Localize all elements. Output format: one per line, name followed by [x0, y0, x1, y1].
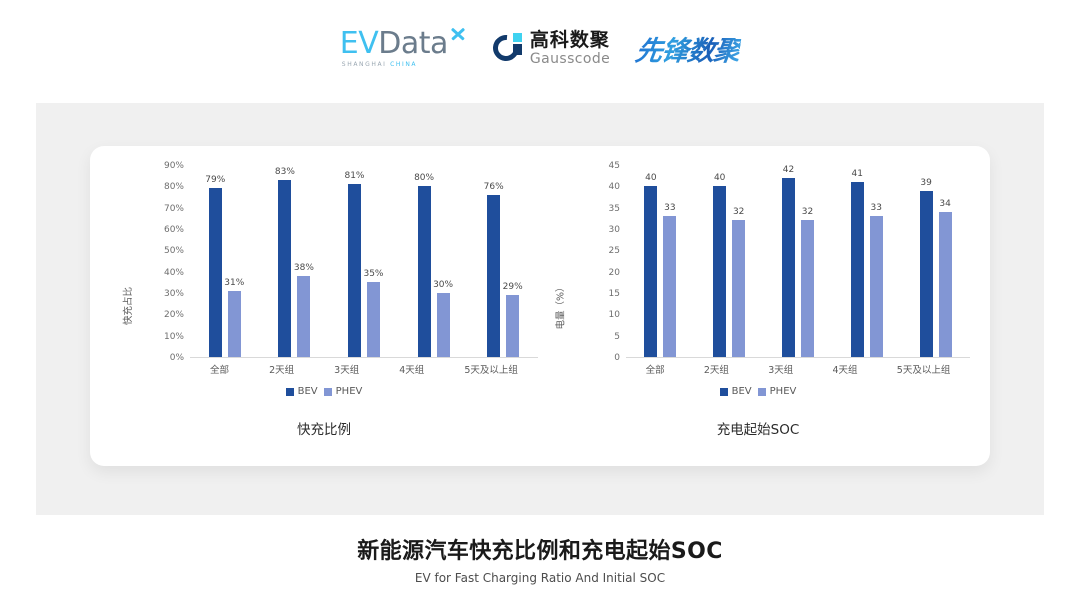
- bar-bev[interactable]: [782, 178, 795, 357]
- bar-phev[interactable]: [732, 220, 745, 357]
- bar-value-label: 40: [645, 173, 656, 183]
- bar-phev[interactable]: [228, 291, 241, 357]
- legend-item-phev[interactable]: PHEV: [324, 386, 363, 397]
- bar-group: 80%30%: [418, 165, 450, 357]
- footer-title-en: EV for Fast Charging Ratio And Initial S…: [0, 571, 1080, 585]
- y-tick-label: 50%: [164, 246, 184, 256]
- bar-phev[interactable]: [506, 295, 519, 357]
- chart-title: 充电起始SOC: [542, 418, 974, 438]
- y-axis-label: 快充占比: [120, 287, 134, 325]
- y-tick-label: 5: [614, 332, 620, 342]
- bar-group: 76%29%: [487, 165, 519, 357]
- x-axis-categories: 全部2天组3天组4天组5天及以上组: [190, 362, 538, 376]
- bar-column[interactable]: 42: [782, 165, 795, 357]
- bar-column[interactable]: 33: [663, 165, 676, 357]
- x-axis-category-label: 5天及以上组: [897, 362, 951, 376]
- gausscode-square-navy: [513, 44, 522, 55]
- bar-value-label: 33: [871, 203, 882, 213]
- bar-group: 4232: [782, 165, 814, 357]
- evdata-wordmark: EVData: [340, 29, 467, 59]
- legend-label: BEV: [732, 386, 752, 397]
- bar-bev[interactable]: [487, 195, 500, 357]
- x-axis-category-label: 3天组: [768, 362, 793, 376]
- chart-initial-soc: 电量（%） 051015202530354045 403340324232413…: [542, 160, 974, 452]
- bar-bev[interactable]: [348, 184, 361, 357]
- bar-column[interactable]: 35%: [367, 165, 380, 357]
- legend-swatch-icon: [758, 388, 766, 396]
- bar-column[interactable]: 39: [920, 165, 933, 357]
- bar-column[interactable]: 83%: [278, 165, 291, 357]
- evdata-subtitle-china: CHINA: [390, 61, 417, 68]
- bar-column[interactable]: 80%: [418, 165, 431, 357]
- bar-phev[interactable]: [663, 216, 676, 357]
- footer: 新能源汽车快充比例和充电起始SOC EV for Fast Charging R…: [0, 533, 1080, 585]
- x-axis-category-label: 4天组: [399, 362, 424, 376]
- bar-value-label: 81%: [344, 171, 364, 181]
- y-tick-label: 20%: [164, 310, 184, 320]
- bar-value-label: 40: [714, 173, 725, 183]
- legend-swatch-icon: [324, 388, 332, 396]
- bar-value-label: 30%: [433, 280, 453, 290]
- evdata-logo: EVData SHANGHAI CHINA: [340, 29, 467, 68]
- bar-value-label: 33: [664, 203, 675, 213]
- bar-value-label: 42: [783, 165, 794, 175]
- bar-column[interactable]: 79%: [209, 165, 222, 357]
- slide-page: EVData SHANGHAI CHINA 高科数聚 Gausscode 先锋数…: [0, 0, 1080, 608]
- bar-phev[interactable]: [801, 220, 814, 357]
- bar-value-label: 34: [939, 199, 950, 209]
- bar-value-label: 41: [852, 169, 863, 179]
- y-tick-label: 30: [609, 225, 620, 235]
- bar-bev[interactable]: [851, 182, 864, 357]
- bar-column[interactable]: 81%: [348, 165, 361, 357]
- y-tick-label: 70%: [164, 204, 184, 214]
- x-axis-category-label: 2天组: [269, 362, 294, 376]
- x-axis-category-label: 全部: [646, 362, 665, 376]
- bar-bev[interactable]: [644, 186, 657, 357]
- chart-fast-charging-ratio: 快充占比 0%10%20%30%40%50%60%70%80%90% 79%31…: [106, 160, 542, 452]
- chart-legend: BEVPHEV: [106, 386, 542, 397]
- bar-column[interactable]: 38%: [297, 165, 310, 357]
- bar-group: 4133: [851, 165, 883, 357]
- bar-bev[interactable]: [209, 188, 222, 357]
- bar-phev[interactable]: [870, 216, 883, 357]
- bar-phev[interactable]: [437, 293, 450, 357]
- bar-value-label: 38%: [294, 263, 314, 273]
- xianfeng-cn-text: 先锋数聚: [633, 29, 742, 68]
- bar-column[interactable]: 33: [870, 165, 883, 357]
- bar-value-label: 32: [802, 207, 813, 217]
- charts-card: 快充占比 0%10%20%30%40%50%60%70%80%90% 79%31…: [90, 146, 990, 466]
- legend-item-phev[interactable]: PHEV: [758, 386, 797, 397]
- bar-column[interactable]: 31%: [228, 165, 241, 357]
- gausscode-cn-text: 高科数聚: [530, 31, 610, 50]
- y-tick-label: 10: [609, 310, 620, 320]
- y-tick-label: 30%: [164, 289, 184, 299]
- y-tick-label: 15: [609, 289, 620, 299]
- y-tick-label: 20: [609, 268, 620, 278]
- bar-column[interactable]: 40: [713, 165, 726, 357]
- chart-legend: BEVPHEV: [542, 386, 974, 397]
- legend-item-bev[interactable]: BEV: [720, 386, 752, 397]
- bars-area: 79%31%83%38%81%35%80%30%76%29%: [190, 166, 538, 358]
- y-tick-label: 40: [609, 182, 620, 192]
- x-mark-icon: [449, 25, 467, 43]
- y-tick-label: 35: [609, 204, 620, 214]
- bar-column[interactable]: 32: [801, 165, 814, 357]
- gausscode-logo: 高科数聚 Gausscode: [493, 31, 610, 66]
- plot-area: 0%10%20%30%40%50%60%70%80%90% 79%31%83%3…: [150, 166, 538, 358]
- footer-title-cn: 新能源汽车快充比例和充电起始SOC: [0, 533, 1080, 565]
- y-tick-label: 40%: [164, 268, 184, 278]
- bar-column[interactable]: 30%: [437, 165, 450, 357]
- xianfeng-logo: 先锋数聚: [636, 29, 740, 68]
- y-tick-label: 10%: [164, 332, 184, 342]
- bar-column[interactable]: 32: [732, 165, 745, 357]
- legend-label: PHEV: [770, 386, 797, 397]
- bar-group: 4032: [713, 165, 745, 357]
- gausscode-square-cyan: [513, 33, 522, 42]
- x-axis-category-label: 5天及以上组: [464, 362, 518, 376]
- bar-column[interactable]: 76%: [487, 165, 500, 357]
- bar-value-label: 83%: [275, 167, 295, 177]
- bar-column[interactable]: 29%: [506, 165, 519, 357]
- bar-group: 83%38%: [278, 165, 310, 357]
- y-axis-ticks: 051015202530354045: [586, 166, 620, 358]
- y-axis-ticks: 0%10%20%30%40%50%60%70%80%90%: [150, 166, 184, 358]
- plot-area: 051015202530354045 40334032423241333934: [586, 166, 970, 358]
- bar-value-label: 39: [920, 178, 931, 188]
- bar-bev[interactable]: [278, 180, 291, 357]
- bar-bev[interactable]: [418, 186, 431, 357]
- y-axis-label: 电量（%）: [553, 282, 567, 329]
- evdata-data-text: Data: [378, 29, 448, 59]
- y-tick-label: 0: [614, 353, 620, 363]
- x-axis-category-label: 3天组: [334, 362, 359, 376]
- y-tick-label: 45: [609, 161, 620, 171]
- bar-value-label: 31%: [224, 278, 244, 288]
- evdata-subtitle-shanghai: SHANGHAI: [342, 61, 387, 68]
- bar-value-label: 76%: [484, 182, 504, 192]
- bar-group: 3934: [920, 165, 952, 357]
- bar-bev[interactable]: [920, 191, 933, 357]
- bar-group: 81%35%: [348, 165, 380, 357]
- bars-area: 40334032423241333934: [626, 166, 970, 358]
- x-axis-categories: 全部2天组3天组4天组5天及以上组: [626, 362, 970, 376]
- bar-column[interactable]: 40: [644, 165, 657, 357]
- legend-label: BEV: [298, 386, 318, 397]
- x-axis-category-label: 2天组: [704, 362, 729, 376]
- y-tick-label: 0%: [170, 353, 184, 363]
- legend-swatch-icon: [286, 388, 294, 396]
- bar-column[interactable]: 34: [939, 165, 952, 357]
- bar-value-label: 35%: [363, 269, 383, 279]
- legend-item-bev[interactable]: BEV: [286, 386, 318, 397]
- y-tick-label: 60%: [164, 225, 184, 235]
- x-axis-category-label: 4天组: [832, 362, 857, 376]
- bar-value-label: 32: [733, 207, 744, 217]
- bar-bev[interactable]: [713, 186, 726, 357]
- legend-swatch-icon: [720, 388, 728, 396]
- gausscode-en-text: Gausscode: [530, 52, 610, 66]
- bar-phev[interactable]: [939, 212, 952, 357]
- x-axis-category-label: 全部: [210, 362, 229, 376]
- bar-value-label: 29%: [503, 282, 523, 292]
- evdata-ev-text: EV: [340, 29, 378, 59]
- bar-phev[interactable]: [367, 282, 380, 357]
- y-tick-label: 80%: [164, 182, 184, 192]
- bar-phev[interactable]: [297, 276, 310, 357]
- bar-column[interactable]: 41: [851, 165, 864, 357]
- logo-bar: EVData SHANGHAI CHINA 高科数聚 Gausscode 先锋数…: [0, 22, 1080, 74]
- evdata-subtitle: SHANGHAI CHINA: [342, 61, 417, 68]
- legend-label: PHEV: [336, 386, 363, 397]
- bar-group: 79%31%: [209, 165, 241, 357]
- chart-title: 快充比例: [106, 418, 542, 438]
- bar-group: 4033: [644, 165, 676, 357]
- y-tick-label: 25: [609, 246, 620, 256]
- bar-value-label: 79%: [205, 175, 225, 185]
- gausscode-mark-icon: [493, 33, 523, 63]
- gausscode-wordmark: 高科数聚 Gausscode: [530, 31, 610, 66]
- bar-value-label: 80%: [414, 173, 434, 183]
- y-tick-label: 90%: [164, 161, 184, 171]
